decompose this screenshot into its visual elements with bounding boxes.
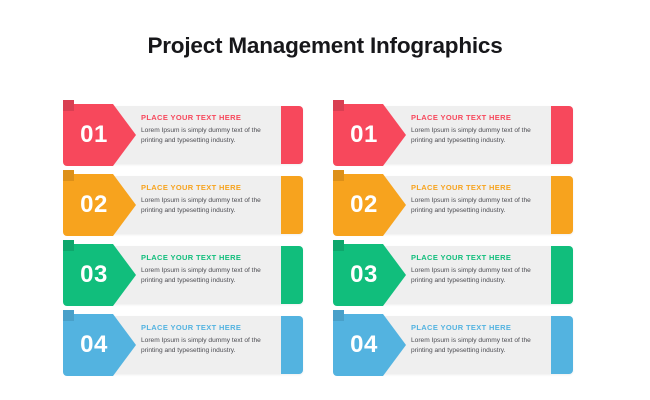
number-tab[interactable]: 02 [63,170,136,240]
chevron-icon [333,310,406,380]
number-tab[interactable]: 02 [333,170,406,240]
item-body-text: Lorem Ipsum is simply dummy text of the … [411,266,541,286]
item-text-block: PLACE YOUR TEXT HERELorem Ipsum is simpl… [141,113,271,146]
info-item[interactable]: 04PLACE YOUR TEXT HERELorem Ipsum is sim… [63,310,303,380]
item-heading: PLACE YOUR TEXT HERE [411,323,541,332]
corner-fold [333,100,344,111]
item-body-text: Lorem Ipsum is simply dummy text of the … [411,196,541,216]
accent-bar [281,316,303,374]
chevron-body [63,174,136,236]
item-body-text: Lorem Ipsum is simply dummy text of the … [141,126,271,146]
item-heading: PLACE YOUR TEXT HERE [141,183,271,192]
info-item[interactable]: 03PLACE YOUR TEXT HERELorem Ipsum is sim… [333,240,573,310]
accent-bar [281,106,303,164]
chevron-body [333,314,406,376]
corner-fold [63,170,74,181]
number-tab[interactable]: 03 [333,240,406,310]
number-tab[interactable]: 01 [333,100,406,170]
info-item[interactable]: 01PLACE YOUR TEXT HERELorem Ipsum is sim… [63,100,303,170]
item-text-block: PLACE YOUR TEXT HERELorem Ipsum is simpl… [411,183,541,216]
chevron-icon [333,170,406,240]
item-text-block: PLACE YOUR TEXT HERELorem Ipsum is simpl… [411,113,541,146]
chevron-body [63,244,136,306]
chevron-body [63,314,136,376]
item-heading: PLACE YOUR TEXT HERE [141,323,271,332]
corner-fold [333,170,344,181]
info-item[interactable]: 01PLACE YOUR TEXT HERELorem Ipsum is sim… [333,100,573,170]
item-heading: PLACE YOUR TEXT HERE [411,253,541,262]
item-text-block: PLACE YOUR TEXT HERELorem Ipsum is simpl… [141,253,271,286]
item-body-text: Lorem Ipsum is simply dummy text of the … [411,336,541,356]
corner-fold [63,240,74,251]
corner-fold [333,240,344,251]
item-text-block: PLACE YOUR TEXT HERELorem Ipsum is simpl… [141,183,271,216]
corner-fold [333,310,344,321]
item-heading: PLACE YOUR TEXT HERE [141,113,271,122]
accent-bar [551,106,573,164]
chevron-icon [63,240,136,310]
chevron-icon [63,310,136,380]
chevron-body [333,244,406,306]
chevron-icon [63,100,136,170]
accent-bar [281,176,303,234]
accent-bar [551,246,573,304]
item-heading: PLACE YOUR TEXT HERE [141,253,271,262]
item-text-block: PLACE YOUR TEXT HERELorem Ipsum is simpl… [411,253,541,286]
number-tab[interactable]: 04 [333,310,406,380]
accent-bar [551,176,573,234]
item-body-text: Lorem Ipsum is simply dummy text of the … [141,266,271,286]
item-body-text: Lorem Ipsum is simply dummy text of the … [141,196,271,216]
info-item[interactable]: 03PLACE YOUR TEXT HERELorem Ipsum is sim… [63,240,303,310]
chevron-body [333,104,406,166]
chevron-icon [333,100,406,170]
number-tab[interactable]: 01 [63,100,136,170]
infographic-canvas: Project Management Infographics 01PLACE … [0,0,650,400]
number-tab[interactable]: 03 [63,240,136,310]
corner-fold [63,100,74,111]
item-body-text: Lorem Ipsum is simply dummy text of the … [411,126,541,146]
corner-fold [63,310,74,321]
item-heading: PLACE YOUR TEXT HERE [411,113,541,122]
chevron-icon [333,240,406,310]
info-item[interactable]: 02PLACE YOUR TEXT HERELorem Ipsum is sim… [63,170,303,240]
chevron-body [63,104,136,166]
item-text-block: PLACE YOUR TEXT HERELorem Ipsum is simpl… [141,323,271,356]
item-body-text: Lorem Ipsum is simply dummy text of the … [141,336,271,356]
infographic-items-layer: 01PLACE YOUR TEXT HERELorem Ipsum is sim… [0,0,650,400]
info-item[interactable]: 04PLACE YOUR TEXT HERELorem Ipsum is sim… [333,310,573,380]
info-item[interactable]: 02PLACE YOUR TEXT HERELorem Ipsum is sim… [333,170,573,240]
item-heading: PLACE YOUR TEXT HERE [411,183,541,192]
item-text-block: PLACE YOUR TEXT HERELorem Ipsum is simpl… [411,323,541,356]
chevron-body [333,174,406,236]
number-tab[interactable]: 04 [63,310,136,380]
accent-bar [551,316,573,374]
chevron-icon [63,170,136,240]
accent-bar [281,246,303,304]
